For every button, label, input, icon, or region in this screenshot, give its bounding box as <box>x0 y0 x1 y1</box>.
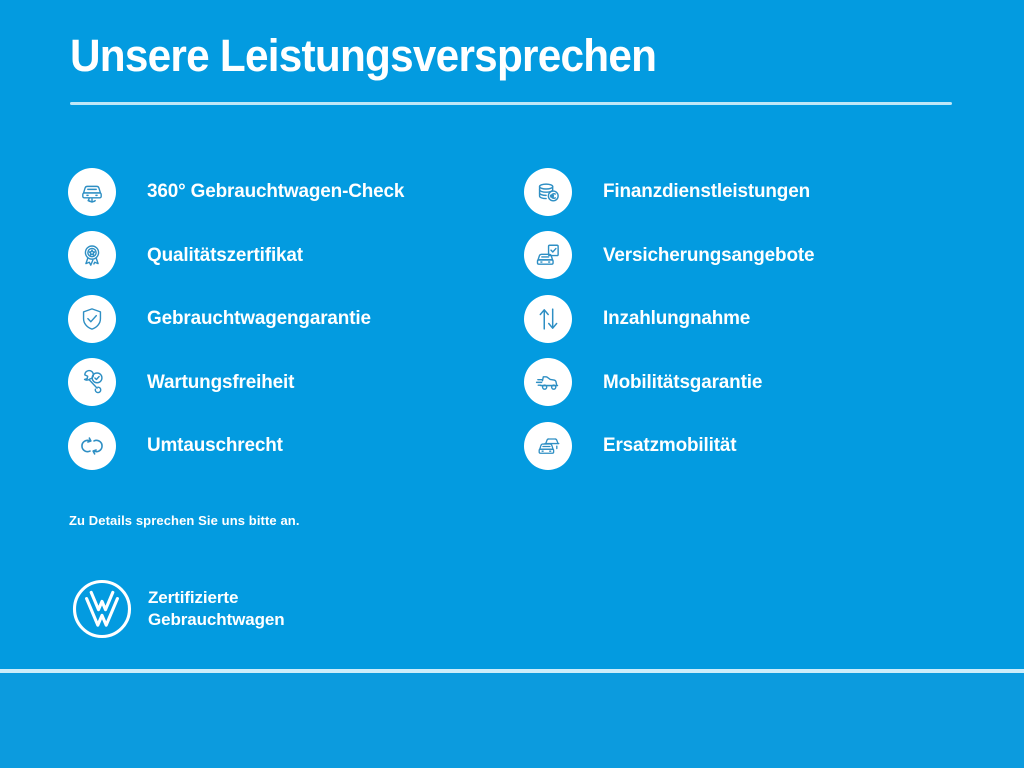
promise-item-360-check[interactable]: 360° Gebrauchtwagen-Check <box>68 160 524 224</box>
promise-item-insurance[interactable]: Versicherungsangebote <box>524 224 958 288</box>
certified-line-1: Zertifizierte <box>148 588 238 607</box>
promise-item-trade-in[interactable]: Inzahlungnahme <box>524 287 958 351</box>
promise-poster: Unsere Leistungsversprechen 360° Gebrauc… <box>0 0 1024 768</box>
promise-item-maintenance-free[interactable]: Wartungsfreiheit <box>68 351 524 415</box>
promise-grid: 360° Gebrauchtwagen-Check Finanzdienstle… <box>68 160 958 478</box>
promise-label: Versicherungsangebote <box>603 244 814 267</box>
exchange-arrows-icon <box>68 422 116 470</box>
wrench-check-icon <box>68 358 116 406</box>
award-rosette-icon <box>68 231 116 279</box>
promise-item-warranty[interactable]: Gebrauchtwagengarantie <box>68 287 524 351</box>
car-clipboard-check-icon <box>524 231 572 279</box>
page-title: Unsere Leistungsversprechen <box>70 32 656 79</box>
car-motion-icon <box>524 358 572 406</box>
promise-label: Inzahlungnahme <box>603 307 750 330</box>
certified-text: Zertifizierte Gebrauchtwagen <box>148 587 285 631</box>
promise-label: 360° Gebrauchtwagen-Check <box>147 180 404 203</box>
promise-label: Umtauschrecht <box>147 434 283 457</box>
promise-label: Qualitätszertifikat <box>147 244 303 267</box>
promise-label: Finanzdienstleistungen <box>603 180 810 203</box>
footer-bar: Autohaus Dallgow <box>0 673 1024 768</box>
promise-label: Mobilitätsgarantie <box>603 371 762 394</box>
promise-item-quality-certificate[interactable]: Qualitätszertifikat <box>68 224 524 288</box>
promise-item-mobility-guarantee[interactable]: Mobilitätsgarantie <box>524 351 958 415</box>
promise-item-replacement-mobility[interactable]: Ersatzmobilität <box>524 414 958 478</box>
certified-used-cars-lockup: Zertifizierte Gebrauchtwagen <box>68 575 285 643</box>
car-360-check-icon <box>68 168 116 216</box>
promise-label: Ersatzmobilität <box>603 434 736 457</box>
promise-item-exchange-right[interactable]: Umtauschrecht <box>68 414 524 478</box>
promise-item-financial-services[interactable]: Finanzdienstleistungen <box>524 160 958 224</box>
promise-label: Wartungsfreiheit <box>147 371 294 394</box>
title-divider <box>70 102 952 105</box>
details-note: Zu Details sprechen Sie uns bitte an. <box>69 513 300 528</box>
up-down-arrows-icon <box>524 295 572 343</box>
two-cars-icon <box>524 422 572 470</box>
coins-euro-icon <box>524 168 572 216</box>
certified-line-2: Gebrauchtwagen <box>148 610 285 629</box>
volkswagen-logo-icon <box>68 575 136 643</box>
promise-label: Gebrauchtwagengarantie <box>147 307 371 330</box>
shield-check-icon <box>68 295 116 343</box>
